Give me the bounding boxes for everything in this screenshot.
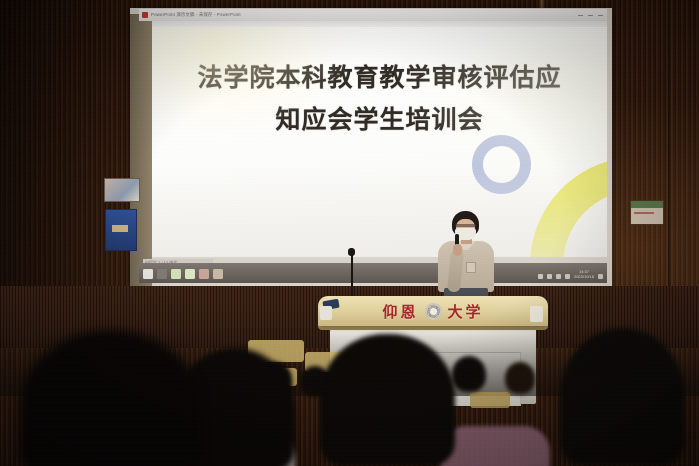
lecture-hall-photo: PowerPoint 演示文稿 - 未保存 - PowerPoint 法学院本科… <box>0 0 699 466</box>
wall-framed-photo-left <box>104 178 140 202</box>
audience-area <box>0 300 699 466</box>
notification-icon[interactable] <box>598 274 603 279</box>
file-explorer-icon[interactable] <box>171 269 181 279</box>
chevron-up-icon[interactable] <box>538 274 543 279</box>
seat-back <box>470 392 510 408</box>
wall-shadow-left <box>0 0 140 330</box>
window-controls[interactable] <box>578 15 607 16</box>
system-tray[interactable]: 14:37 2023/10/18 <box>538 269 607 283</box>
browser-icon[interactable] <box>199 269 209 279</box>
volume-icon[interactable] <box>556 274 561 279</box>
foreground-head-center <box>320 334 455 466</box>
slide-title: 法学院本科教育教学审核评估应 知应会学生培训会 <box>152 57 607 141</box>
taskbar-clock[interactable]: 14:37 2023/10/18 <box>574 269 594 279</box>
powerpoint-taskbar-icon[interactable] <box>213 269 223 279</box>
speaker-shirt-badge <box>466 262 476 273</box>
wall-panel-seam <box>668 0 672 330</box>
minimize-icon[interactable] <box>578 15 583 16</box>
audience-head <box>505 362 535 394</box>
foreground-head-right <box>560 328 685 466</box>
start-menu-icon[interactable] <box>143 269 153 279</box>
slide-title-line-2: 知应会学生培训会 <box>152 99 607 141</box>
wall-notice-text-line <box>634 212 654 214</box>
search-icon[interactable] <box>157 269 167 279</box>
taskbar-app-icons[interactable] <box>139 269 223 283</box>
audience-mauve-shirt <box>440 426 550 466</box>
speaker-glasses <box>455 224 476 227</box>
decorative-yellow-arc <box>519 146 607 257</box>
slide-surface: 法学院本科教育教学审核评估应 知应会学生培训会 <box>152 27 607 257</box>
slide-title-line-1: 法学院本科教育教学审核评估应 <box>197 64 561 92</box>
decorative-blue-ring <box>472 135 531 194</box>
powerpoint-title-bar: PowerPoint 演示文稿 - 未保存 - PowerPoint <box>139 9 607 21</box>
clock-date: 2023/10/18 <box>574 274 594 279</box>
network-icon[interactable] <box>547 274 552 279</box>
wechat-icon[interactable] <box>185 269 195 279</box>
close-icon[interactable] <box>598 15 603 16</box>
maximize-icon[interactable] <box>588 15 593 16</box>
speaker-hand <box>453 244 462 256</box>
windows-taskbar[interactable]: 14:37 2023/10/18 <box>139 263 607 283</box>
powerpoint-icon <box>142 12 148 18</box>
powerpoint-window-title: PowerPoint 演示文稿 - 未保存 - PowerPoint <box>151 12 241 18</box>
audience-head <box>452 356 486 392</box>
notice-board-label <box>112 225 128 232</box>
input-method-icon[interactable] <box>565 274 570 279</box>
